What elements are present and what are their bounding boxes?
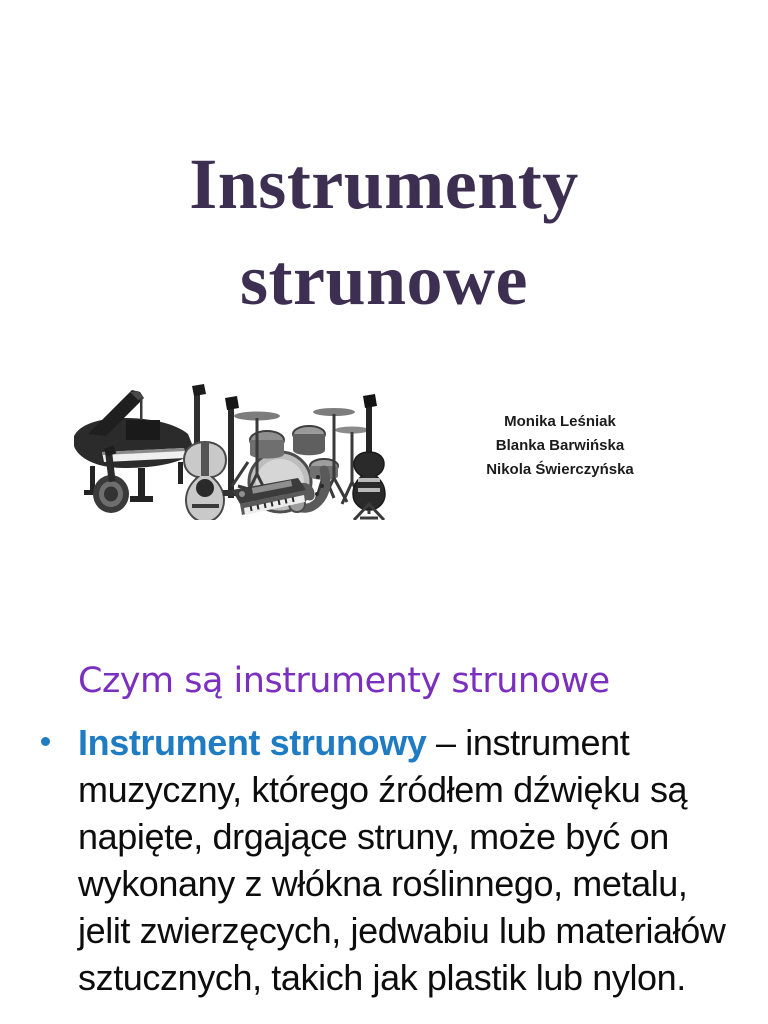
instruments-photo: [66, 378, 398, 520]
section-heading: Czym są instrumenty strunowe: [78, 661, 610, 701]
author-list: Monika Leśniak Blanka Barwińska Nikola Ś…: [440, 410, 680, 482]
slide-title: Instrumenty strunowe: [0, 0, 768, 615]
definition-body: – instrument muzyczny, którego źródłem d…: [78, 722, 725, 998]
bullet-dot-icon: [41, 737, 50, 746]
slide-content: Czym są instrumenty strunowe Instrument …: [0, 615, 768, 1024]
definition-term: Instrument strunowy: [78, 722, 426, 763]
page-title: Instrumenty strunowe: [0, 136, 768, 328]
list-item: Instrument strunowy – instrument muzyczn…: [30, 719, 746, 1001]
document-page: Instrumenty strunowe: [0, 0, 768, 1024]
author-name: Blanka Barwińska: [440, 434, 680, 458]
bullet-list: Instrument strunowy – instrument muzyczn…: [30, 719, 746, 1001]
author-name: Nikola Świerczyńska: [440, 458, 680, 482]
author-name: Monika Leśniak: [440, 410, 680, 434]
